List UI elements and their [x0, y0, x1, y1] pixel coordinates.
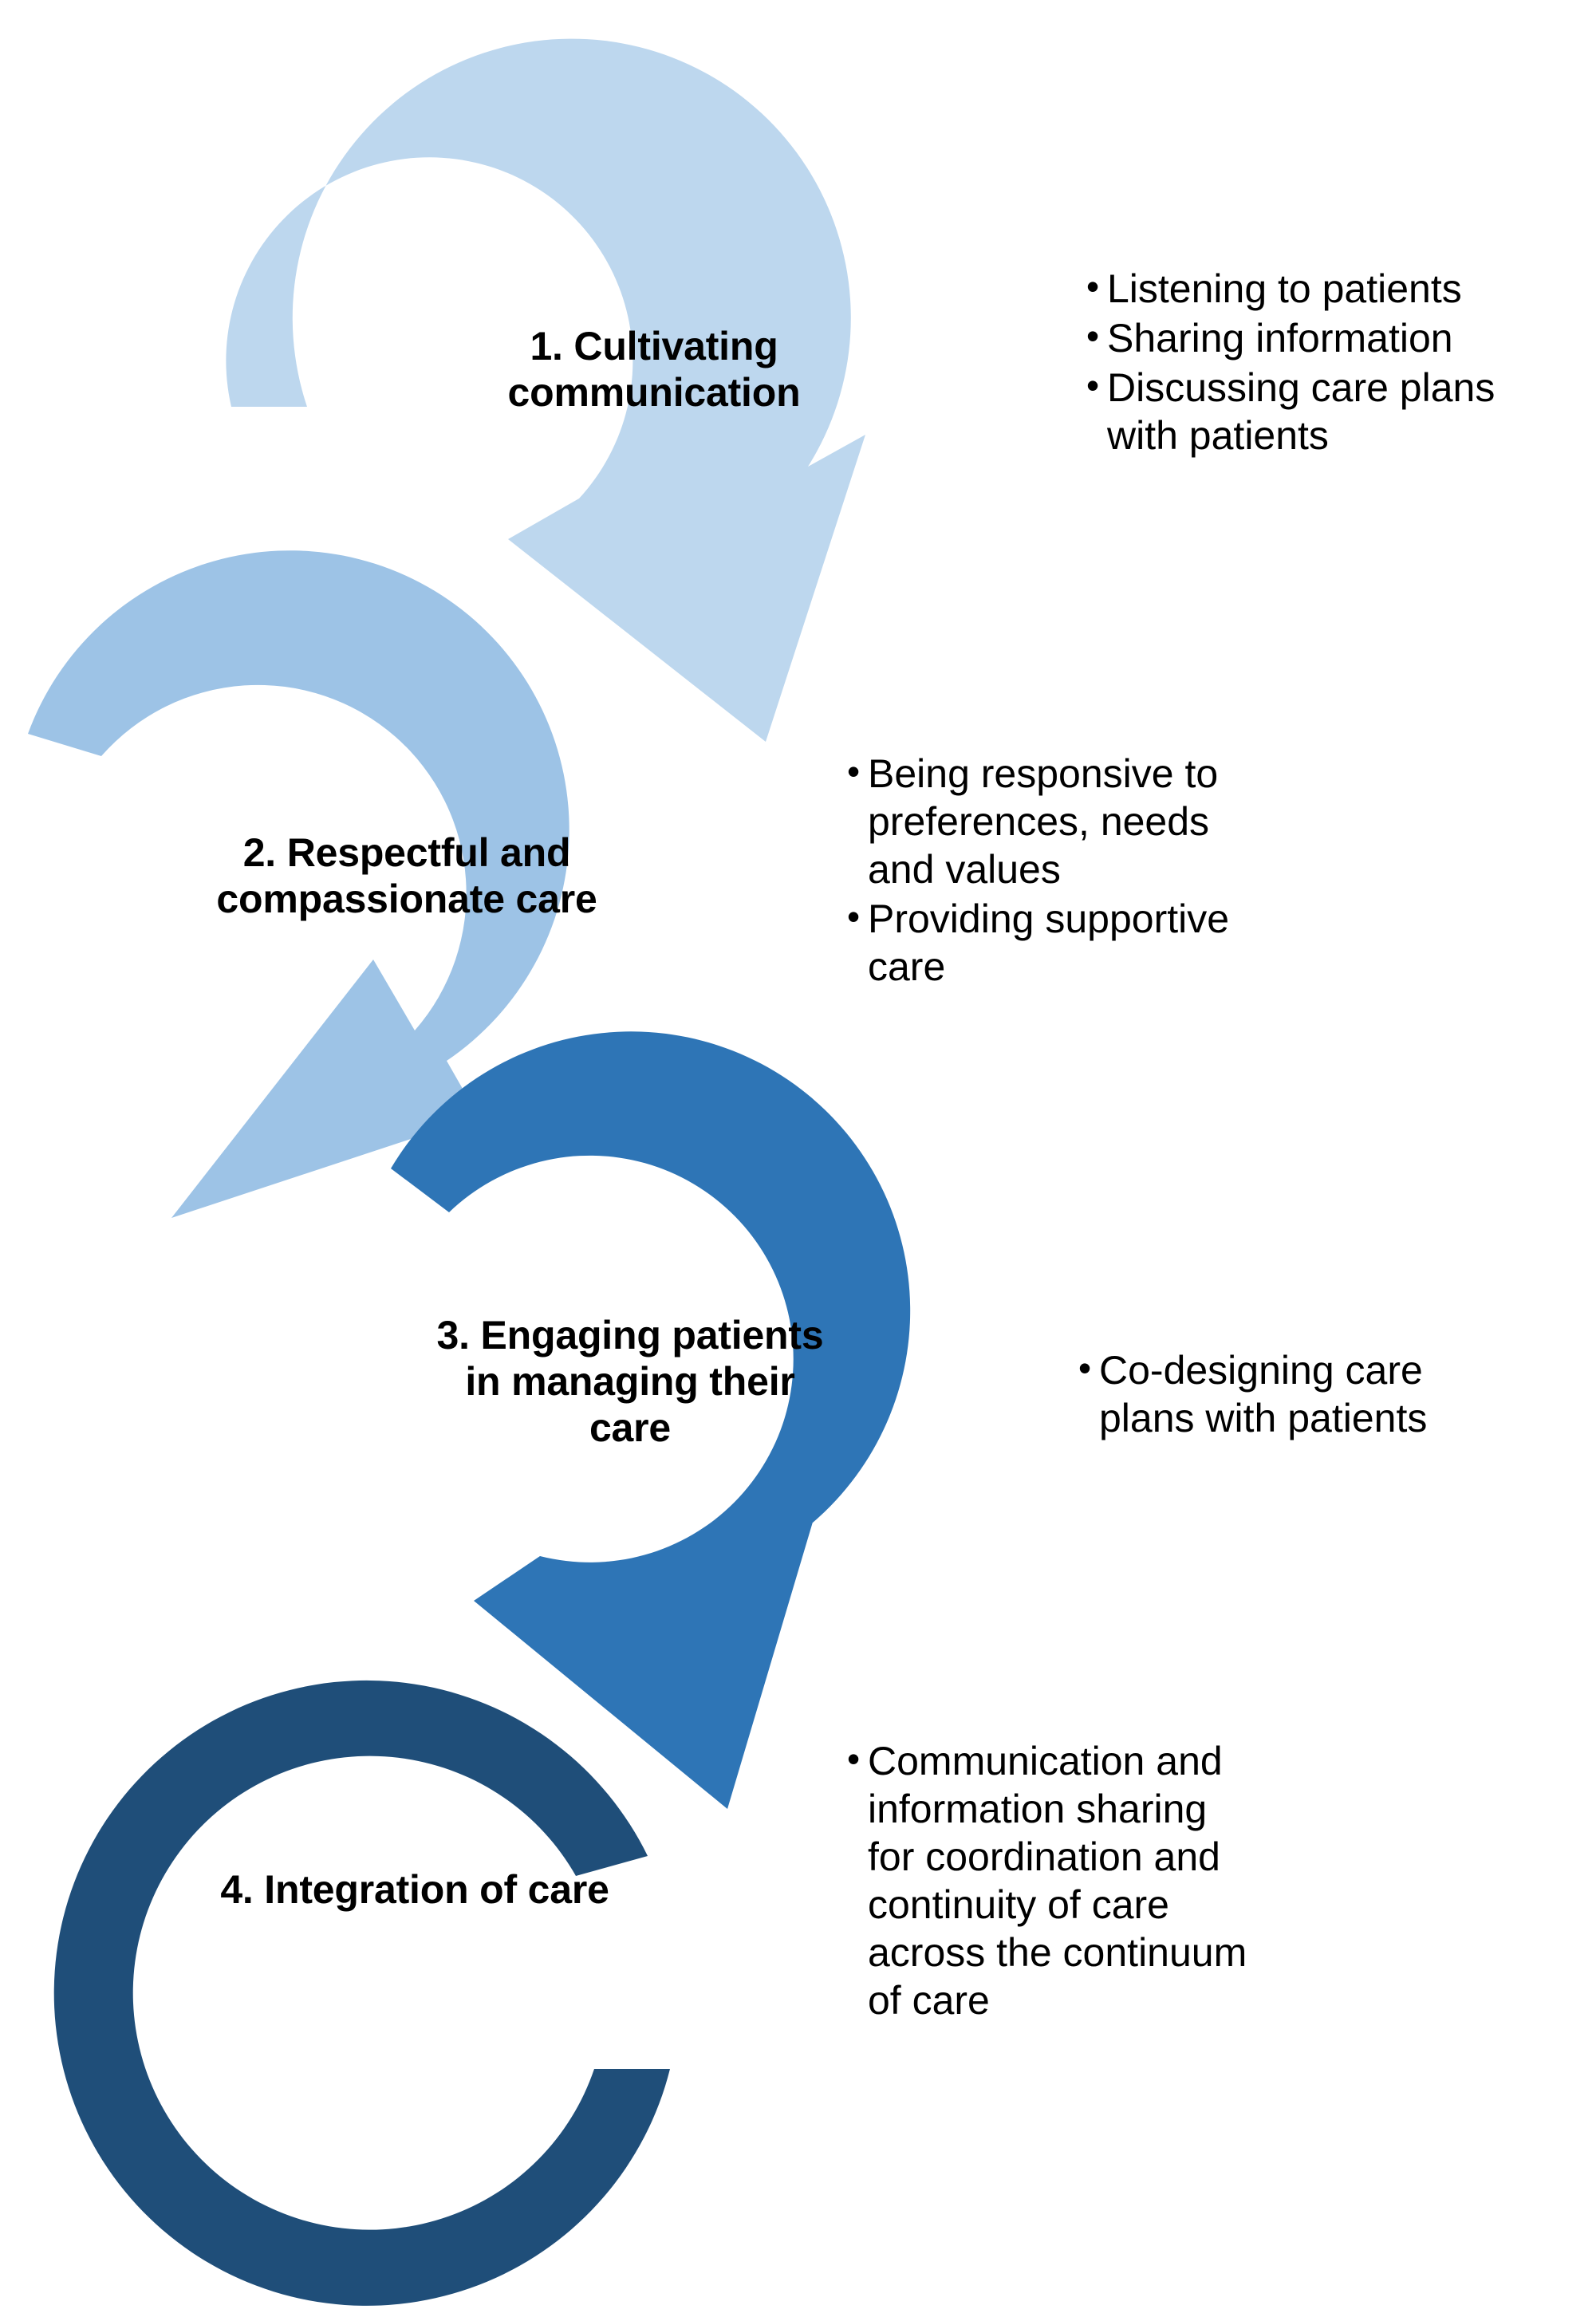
ring-4-integration-of-care: [54, 1681, 670, 2306]
bullet-text: Sharing information: [1107, 314, 1596, 362]
bullet-dot-icon: •: [847, 750, 868, 794]
stage-label-2-respectful-compassionate-care: 2. Respectful and compassionate care: [152, 829, 662, 922]
list-item: • Providing supportive care: [847, 895, 1358, 991]
patient-centred-care-cycle-diagram: 1. Cultivating communication 2. Respectf…: [0, 0, 1596, 2317]
bullet-list-stage-4: • Communication and information sharing …: [847, 1737, 1373, 2026]
bullet-dot-icon: •: [1086, 314, 1107, 358]
bullet-dot-icon: •: [1078, 1346, 1099, 1390]
list-item: • Being responsive to preferences, needs…: [847, 750, 1358, 893]
bullet-dot-icon: •: [847, 895, 868, 939]
bullet-list-stage-2: • Being responsive to preferences, needs…: [847, 750, 1358, 992]
bullet-text: Communication and information sharing fo…: [868, 1737, 1373, 2024]
bullet-text: Discussing care plans with patients: [1107, 364, 1596, 459]
bullet-text: Providing supportive care: [868, 895, 1358, 991]
bullet-text: Being responsive to preferences, needs a…: [868, 750, 1358, 893]
list-item: • Co-designing care plans with patients: [1078, 1346, 1589, 1442]
list-item: • Sharing information: [1086, 314, 1596, 362]
bullet-list-stage-3: • Co-designing care plans with patients: [1078, 1346, 1589, 1444]
list-item: • Communication and information sharing …: [847, 1737, 1373, 2024]
bullet-text: Co-designing care plans with patients: [1099, 1346, 1589, 1442]
stage-label-3-engaging-patients: 3. Engaging patients in managing their c…: [375, 1312, 885, 1451]
bullet-dot-icon: •: [1086, 265, 1107, 309]
bullet-list-stage-1: • Listening to patients • Sharing inform…: [1086, 265, 1596, 461]
bullet-dot-icon: •: [1086, 364, 1107, 408]
bullet-text: Listening to patients: [1107, 265, 1596, 313]
list-item: • Listening to patients: [1086, 265, 1596, 313]
stage-label-1-cultivating-communication: 1. Cultivating communication: [447, 323, 861, 416]
list-item: • Discussing care plans with patients: [1086, 364, 1596, 459]
stage-label-4-integration-of-care: 4. Integration of care: [160, 1866, 670, 1913]
bullet-dot-icon: •: [847, 1737, 868, 1781]
